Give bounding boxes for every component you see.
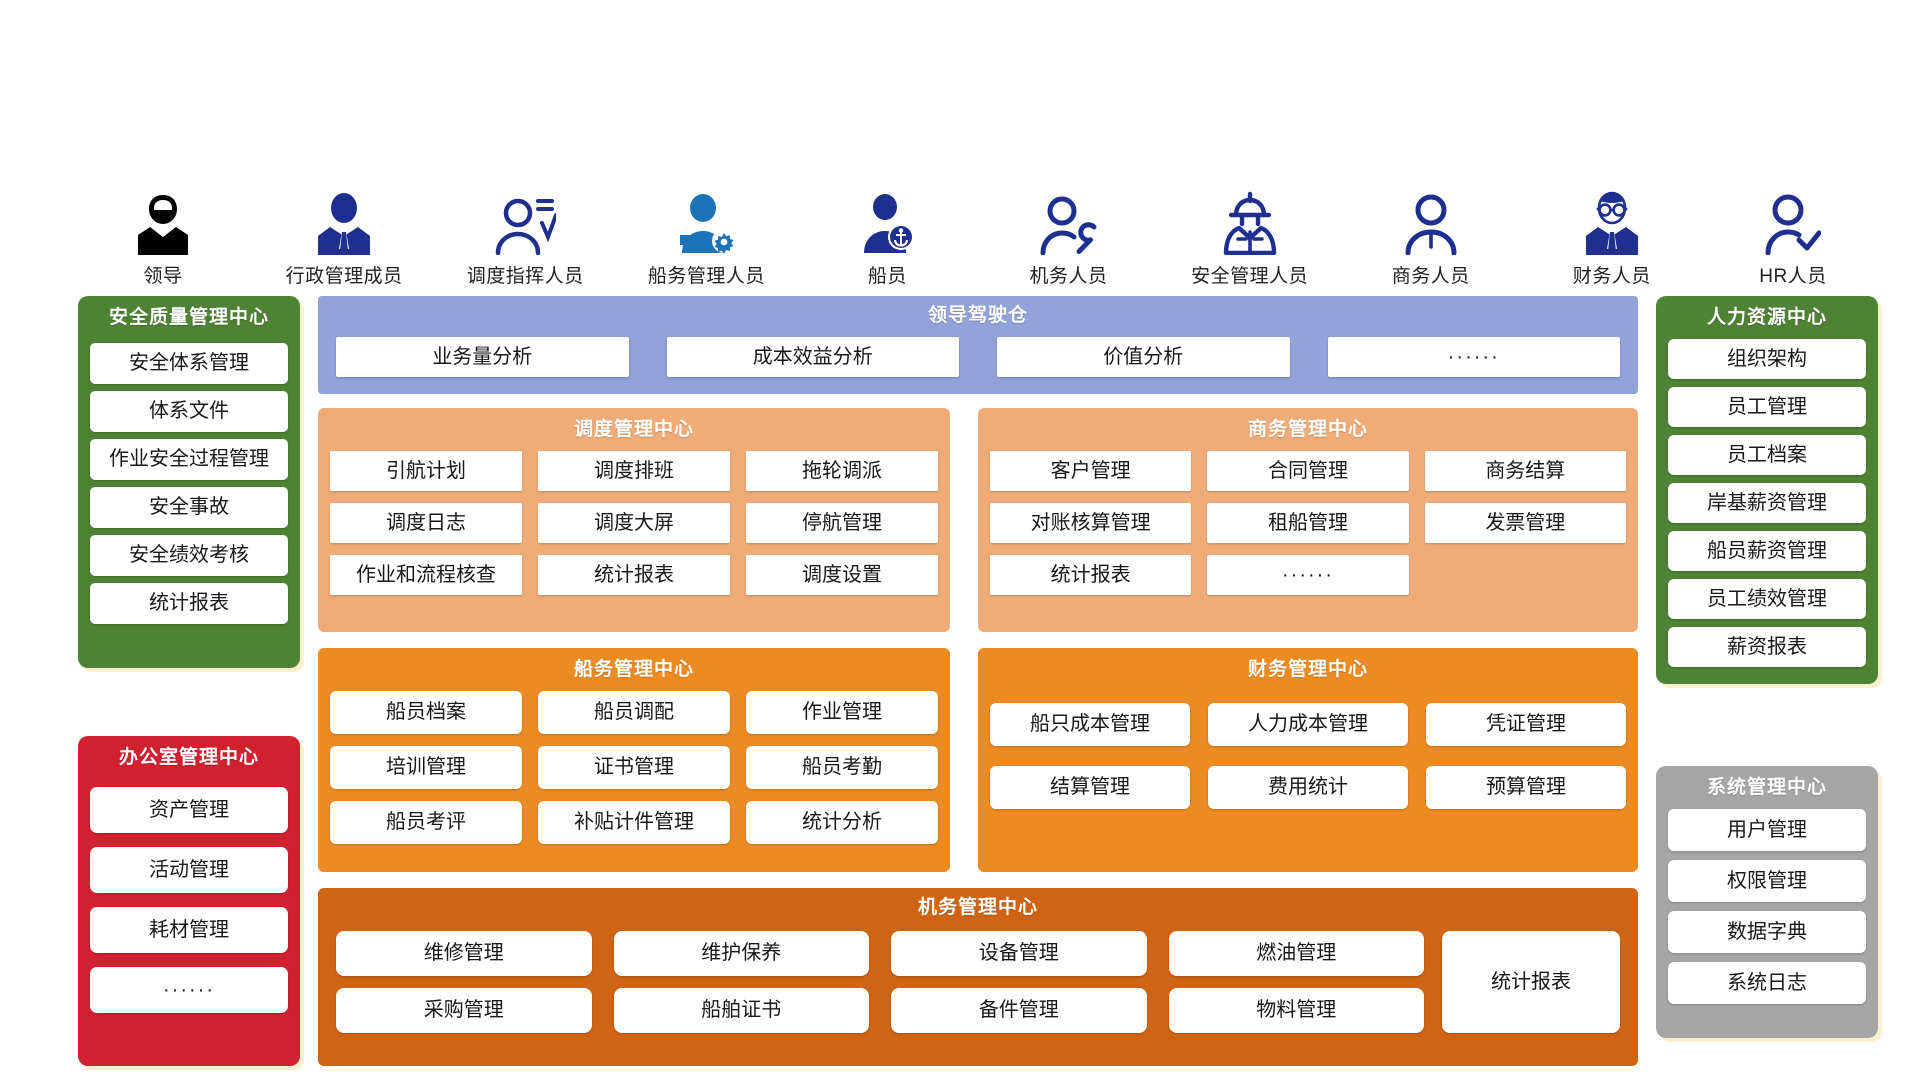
tile-dispatch-2[interactable]: 拖轮调派: [746, 451, 938, 491]
role-label: 机务人员: [1030, 261, 1108, 288]
tile-shipaffairs-2[interactable]: 作业管理: [746, 691, 938, 734]
tile-shipaffairs-6[interactable]: 船员考评: [330, 801, 522, 844]
engineering-body: 维修管理维护保养设备管理燃油管理采购管理船舶证书备件管理物料管理 统计报表: [336, 927, 1620, 1033]
role-item: 财务人员: [1527, 187, 1697, 288]
panel-finance-management-center[interactable]: 财务管理中心 船只成本管理人力成本管理凭证管理结算管理费用统计预算管理: [978, 648, 1638, 872]
tile-list-system: 用户管理权限管理数据字典系统日志: [1668, 807, 1866, 1004]
architecture-board: 安全质量管理中心 安全体系管理体系文件作业安全过程管理安全事故安全绩效考核统计报…: [78, 296, 1878, 1068]
tile-dispatch-4[interactable]: 调度大屏: [538, 503, 730, 543]
role-label: 船务管理人员: [648, 261, 765, 288]
tile-hr-0[interactable]: 组织架构: [1668, 339, 1866, 379]
user-suit-black-icon: [135, 187, 191, 255]
tile-safety-1[interactable]: 体系文件: [90, 391, 288, 432]
role-label: 船员: [868, 261, 907, 288]
panel-office-management-center[interactable]: 办公室管理中心 资产管理活动管理耗材管理······: [78, 736, 300, 1066]
tile-engineering-3[interactable]: 燃油管理: [1169, 931, 1425, 976]
tile-dispatch-7[interactable]: 统计报表: [538, 555, 730, 595]
tile-list-shipaffairs: 船员档案船员调配作业管理培训管理证书管理船员考勤船员考评补贴计件管理统计分析: [330, 689, 938, 844]
tile-shipaffairs-3[interactable]: 培训管理: [330, 746, 522, 789]
role-item: 安全管理人员: [1165, 187, 1335, 288]
panel-ship-affairs-management-center[interactable]: 船务管理中心 船员档案船员调配作业管理培训管理证书管理船员考勤船员考评补贴计件管…: [318, 648, 950, 872]
tile-engineering-statistics-report[interactable]: 统计报表: [1442, 931, 1620, 1033]
tile-safety-2[interactable]: 作业安全过程管理: [90, 439, 288, 480]
tile-list-cockpit: 业务量分析成本效益分析价值分析······: [336, 335, 1620, 377]
role-label: 领导: [143, 261, 182, 288]
tile-shipaffairs-7[interactable]: 补贴计件管理: [538, 801, 730, 844]
tile-engineering-1[interactable]: 维护保养: [614, 931, 870, 976]
tile-office-0[interactable]: 资产管理: [90, 787, 288, 833]
tile-engineering-0[interactable]: 维修管理: [336, 931, 592, 976]
role-icon-strip: 领导 行政管理成员 调度指挥人员 船务管理人员: [78, 178, 1878, 288]
tile-office-2[interactable]: 耗材管理: [90, 907, 288, 953]
user-anchor-icon: [859, 187, 915, 255]
tile-safety-5[interactable]: 统计报表: [90, 583, 288, 624]
tile-business-6[interactable]: 统计报表: [990, 555, 1191, 595]
tile-dispatch-0[interactable]: 引航计划: [330, 451, 522, 491]
tile-safety-4[interactable]: 安全绩效考核: [90, 535, 288, 576]
user-helmet-icon: [1220, 187, 1280, 255]
tile-engineering-5[interactable]: 船舶证书: [614, 988, 870, 1033]
role-item: 领导: [78, 187, 248, 288]
tile-finance-2[interactable]: 凭证管理: [1426, 703, 1626, 746]
role-item: 船员: [802, 187, 972, 288]
tile-finance-3[interactable]: 结算管理: [990, 766, 1190, 809]
tile-business-5[interactable]: 发票管理: [1425, 503, 1626, 543]
role-label: HR人员: [1759, 261, 1826, 288]
panel-human-resources-center[interactable]: 人力资源中心 组织架构员工管理员工档案岸基薪资管理船员薪资管理员工绩效管理薪资报…: [1656, 296, 1878, 684]
panel-dispatch-management-center[interactable]: 调度管理中心 引航计划调度排班拖轮调派调度日志调度大屏停航管理作业和流程核查统计…: [318, 408, 950, 632]
tile-office-3[interactable]: ······: [90, 967, 288, 1013]
tile-safety-3[interactable]: 安全事故: [90, 487, 288, 528]
tile-hr-4[interactable]: 船员薪资管理: [1668, 531, 1866, 571]
panel-title: 办公室管理中心: [90, 744, 288, 777]
tile-office-1[interactable]: 活动管理: [90, 847, 288, 893]
tile-business-1[interactable]: 合同管理: [1207, 451, 1408, 491]
tile-list-office: 资产管理活动管理耗材管理······: [90, 777, 288, 1013]
role-item: HR人员: [1708, 187, 1878, 288]
panel-title: 人力资源中心: [1668, 304, 1866, 337]
panel-leader-cockpit[interactable]: 领导驾驶仓 业务量分析成本效益分析价值分析······: [318, 296, 1638, 394]
tile-shipaffairs-1[interactable]: 船员调配: [538, 691, 730, 734]
user-outline-icon: [1405, 187, 1457, 255]
tile-finance-0[interactable]: 船只成本管理: [990, 703, 1190, 746]
tile-business-3[interactable]: 对账核算管理: [990, 503, 1191, 543]
panel-title: 领导驾驶仓: [336, 302, 1620, 335]
tile-cockpit-3[interactable]: ······: [1328, 337, 1621, 377]
tile-hr-6[interactable]: 薪资报表: [1668, 627, 1866, 667]
tile-business-2[interactable]: 商务结算: [1425, 451, 1626, 491]
tile-finance-1[interactable]: 人力成本管理: [1208, 703, 1408, 746]
tile-list-dispatch: 引航计划调度排班拖轮调派调度日志调度大屏停航管理作业和流程核查统计报表调度设置: [330, 449, 938, 595]
role-item: 商务人员: [1346, 187, 1516, 288]
role-label: 安全管理人员: [1191, 261, 1308, 288]
panel-title: 系统管理中心: [1668, 774, 1866, 807]
tile-list-finance: 船只成本管理人力成本管理凭证管理结算管理费用统计预算管理: [990, 689, 1626, 809]
panel-engineering-management-center[interactable]: 机务管理中心 维修管理维护保养设备管理燃油管理采购管理船舶证书备件管理物料管理 …: [318, 888, 1638, 1066]
panel-title: 船务管理中心: [330, 656, 938, 689]
tile-hr-1[interactable]: 员工管理: [1668, 387, 1866, 427]
role-label: 行政管理成员: [286, 261, 403, 288]
tile-shipaffairs-0[interactable]: 船员档案: [330, 691, 522, 734]
tile-dispatch-1[interactable]: 调度排班: [538, 451, 730, 491]
user-wrench-icon: [1040, 187, 1098, 255]
tile-cockpit-0[interactable]: 业务量分析: [336, 337, 629, 377]
role-item: 调度指挥人员: [440, 187, 610, 288]
tile-list-safety: 安全体系管理体系文件作业安全过程管理安全事故安全绩效考核统计报表: [90, 337, 288, 624]
user-suit-tie-icon: [316, 187, 372, 255]
tile-dispatch-5[interactable]: 停航管理: [746, 503, 938, 543]
user-glasses-icon: [1584, 187, 1640, 255]
tile-finance-5[interactable]: 预算管理: [1426, 766, 1626, 809]
tile-list-hr: 组织架构员工管理员工档案岸基薪资管理船员薪资管理员工绩效管理薪资报表: [1668, 337, 1866, 667]
role-label: 商务人员: [1392, 261, 1470, 288]
panel-title: 机务管理中心: [336, 894, 1620, 927]
engineering-report-column: 统计报表: [1442, 931, 1620, 1033]
panel-title: 安全质量管理中心: [90, 304, 288, 337]
tile-shipaffairs-4[interactable]: 证书管理: [538, 746, 730, 789]
tile-cockpit-2[interactable]: 价值分析: [997, 337, 1290, 377]
user-gear-icon: [676, 187, 736, 255]
tile-hr-5[interactable]: 员工绩效管理: [1668, 579, 1866, 619]
panel-title: 调度管理中心: [330, 416, 938, 449]
role-item: 机务人员: [984, 187, 1154, 288]
role-item: 行政管理成员: [259, 187, 429, 288]
tile-business-7[interactable]: ······: [1207, 555, 1408, 595]
user-check-icon: [1765, 187, 1821, 255]
panel-title: 财务管理中心: [990, 656, 1626, 689]
tile-business-4[interactable]: 租船管理: [1207, 503, 1408, 543]
tile-list-engineering: 维修管理维护保养设备管理燃油管理采购管理船舶证书备件管理物料管理: [336, 931, 1424, 1033]
tile-dispatch-6[interactable]: 作业和流程核查: [330, 555, 522, 595]
role-label: 财务人员: [1573, 261, 1651, 288]
tile-system-3[interactable]: 系统日志: [1668, 962, 1866, 1004]
tile-system-0[interactable]: 用户管理: [1668, 809, 1866, 851]
tile-engineering-2[interactable]: 设备管理: [891, 931, 1147, 976]
panel-safety-quality-center[interactable]: 安全质量管理中心 安全体系管理体系文件作业安全过程管理安全事故安全绩效考核统计报…: [78, 296, 300, 668]
panel-title: 商务管理中心: [990, 416, 1626, 449]
tile-finance-4[interactable]: 费用统计: [1208, 766, 1408, 809]
panel-system-management-center[interactable]: 系统管理中心 用户管理权限管理数据字典系统日志: [1656, 766, 1878, 1038]
tile-dispatch-3[interactable]: 调度日志: [330, 503, 522, 543]
tile-engineering-6[interactable]: 备件管理: [891, 988, 1147, 1033]
role-item: 船务管理人员: [621, 187, 791, 288]
tile-safety-0[interactable]: 安全体系管理: [90, 343, 288, 384]
tile-hr-3[interactable]: 岸基薪资管理: [1668, 483, 1866, 523]
tile-dispatch-8[interactable]: 调度设置: [746, 555, 938, 595]
tile-cockpit-1[interactable]: 成本效益分析: [667, 337, 960, 377]
tile-system-1[interactable]: 权限管理: [1668, 860, 1866, 902]
user-outline-list-icon: [494, 187, 556, 255]
panel-business-management-center[interactable]: 商务管理中心 客户管理合同管理商务结算对账核算管理租船管理发票管理统计报表···…: [978, 408, 1638, 632]
tile-shipaffairs-8[interactable]: 统计分析: [746, 801, 938, 844]
tile-hr-2[interactable]: 员工档案: [1668, 435, 1866, 475]
tile-business-0[interactable]: 客户管理: [990, 451, 1191, 491]
tile-system-2[interactable]: 数据字典: [1668, 911, 1866, 953]
tile-engineering-7[interactable]: 物料管理: [1169, 988, 1425, 1033]
role-label: 调度指挥人员: [467, 261, 584, 288]
tile-shipaffairs-5[interactable]: 船员考勤: [746, 746, 938, 789]
tile-engineering-4[interactable]: 采购管理: [336, 988, 592, 1033]
tile-list-business: 客户管理合同管理商务结算对账核算管理租船管理发票管理统计报表······: [990, 449, 1626, 595]
